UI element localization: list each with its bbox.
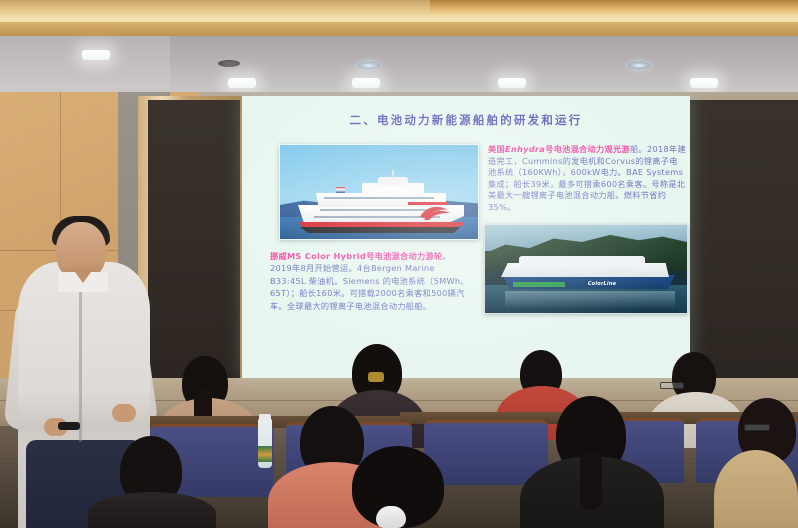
glasses-icon (660, 382, 684, 389)
downlight-icon (352, 78, 380, 88)
projection-screen: 二、电池动力新能源船舶的研发和运行 美国Enhydra号电池 (242, 96, 690, 378)
presenter-hand-right (112, 404, 136, 422)
ceiling-warm-cove-right (430, 0, 798, 16)
colorhybrid-heading-lead: 挪威MS Color Hybrid (270, 251, 366, 261)
cruise-upper-deck (519, 256, 645, 265)
water-bottle-label (258, 446, 272, 462)
ferry-mast (392, 170, 394, 178)
seat-back[interactable] (424, 420, 548, 485)
ferry-windows (324, 197, 434, 199)
cruise-green-stripe (513, 282, 565, 287)
downlight-icon (358, 62, 380, 69)
slide-text-enhydra: 美国Enhydra号电池混合动力观光游船。2018年建造完工，Cummins的发… (488, 144, 686, 214)
hair-clip-icon (368, 372, 384, 382)
slide-text-color-hybrid: 挪威MS Color Hybrid号电池混合动力游轮。2019年8月开始营运。4… (270, 250, 470, 312)
colorhybrid-heading-tail: 号电池混合动力游轮 (366, 251, 442, 261)
curtain-right (690, 100, 798, 400)
enhydra-heading-lead: 美国 (488, 144, 505, 154)
ferry-swirl-logo-icon (418, 203, 452, 221)
presenter-clicker[interactable] (58, 422, 80, 430)
lecture-hall-photo: 二、电池动力新能源船舶的研发和运行 美国Enhydra号电池 (0, 0, 798, 528)
ferry-photo-color-hybrid: ColorLine (484, 224, 688, 314)
enhydra-body: 船。2018年建造完工，Cummins的发电机和Corvus的锂离子电池系统（1… (488, 144, 686, 212)
downlight-icon (690, 78, 718, 88)
door-panel[interactable] (148, 100, 240, 396)
presenter-shirt-placket (79, 292, 82, 442)
ferry-photo-enhydra (279, 144, 479, 240)
flag-icon (336, 187, 345, 193)
colorline-logo: ColorLine (581, 281, 623, 288)
downlight-icon (628, 62, 650, 69)
audience-shoulders (88, 492, 216, 528)
water-bottle-cap (259, 414, 271, 421)
downlight-icon (228, 78, 256, 88)
audience-ponytail (580, 450, 602, 510)
downlight-icon (82, 50, 110, 60)
cruise-superstructure (501, 263, 669, 277)
glasses-icon (744, 424, 770, 431)
enhydra-heading-italic: Enhydra (505, 144, 545, 154)
downlight-icon (218, 60, 240, 67)
slide-title: 二、电池动力新能源船舶的研发和运行 (242, 112, 690, 128)
downlight-icon (498, 78, 526, 88)
ferry-bridge (378, 177, 408, 185)
photo-reflection (505, 291, 675, 309)
ferry-black-keel (300, 227, 460, 233)
presenter-mouse[interactable] (376, 506, 406, 528)
enhydra-heading-tail: 号电池混合动力观光游 (545, 144, 630, 154)
